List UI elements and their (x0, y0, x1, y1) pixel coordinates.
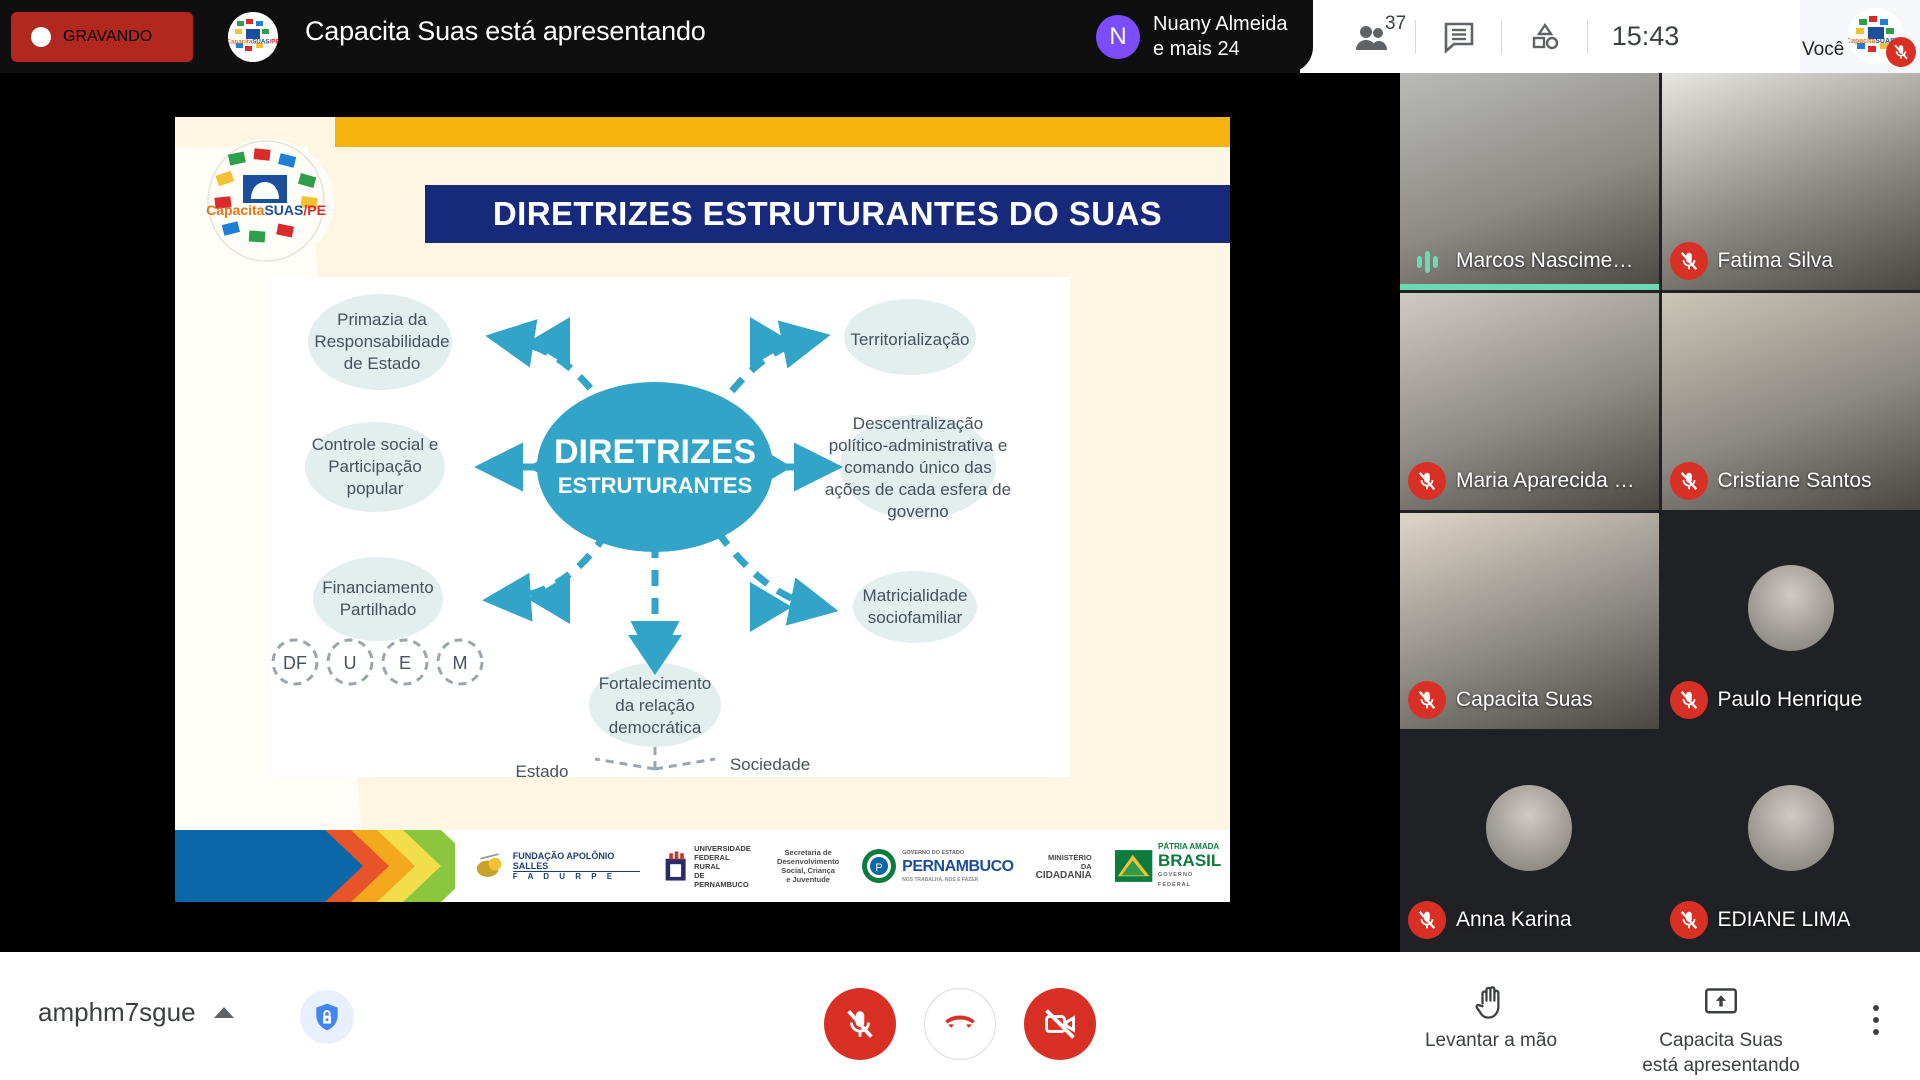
call-end-icon (942, 1006, 978, 1042)
chevron-up-icon (214, 1007, 234, 1018)
diretrizes-diagram: DIRETRIZES ESTRUTURANTES Primazia daResp… (270, 277, 1070, 777)
slide-footer: FUNDAÇÃO APOLÔNIO SALLESF A D U R P E UN… (175, 830, 1230, 902)
people-count: 37 (1385, 13, 1406, 35)
active-speaker-chip[interactable]: N Nuany Almeida e mais 24 (1073, 0, 1313, 73)
secretaria-desenvolvimento-social-logo: Secretaria deDesenvolvimentoSocial, Cria… (777, 848, 839, 884)
mic-off-button[interactable] (824, 988, 896, 1060)
svg-text:Partilhado: Partilhado (340, 600, 417, 619)
slide-title: DIRETRIZES ESTRUTURANTES DO SUAS (493, 195, 1162, 233)
raise-hand-label: Levantar a mão (1396, 1028, 1586, 1053)
svg-text:popular: popular (347, 479, 404, 498)
speaker-names: Nuany Almeida e mais 24 (1153, 12, 1288, 62)
ministerio-cidadania-logo: MINISTÉRIO DACIDADANIA (1036, 853, 1092, 880)
meeting-code: amphm7sgue (38, 997, 196, 1028)
svg-text:político-administrativa e: político-administrativa e (829, 436, 1008, 455)
avatar (1748, 565, 1834, 651)
participant-name: Marcos Nascime… (1456, 249, 1633, 273)
svg-text:CapacitaSUAS/PE: CapacitaSUAS/PE (206, 202, 326, 218)
svg-text:M: M (453, 653, 468, 673)
mic-off-icon (843, 1007, 877, 1041)
raise-hand-button[interactable]: Levantar a mão (1396, 980, 1586, 1053)
hangup-button[interactable] (924, 988, 996, 1060)
footer-chevrons (325, 830, 455, 902)
mic-off-icon (1670, 681, 1708, 719)
presenting-status-button[interactable]: Capacita Suas está apresentando (1626, 980, 1816, 1078)
svg-text:sociofamiliar: sociofamiliar (868, 608, 963, 627)
mic-off-icon (1670, 462, 1708, 500)
speaking-indicator-icon (1410, 246, 1444, 278)
participant-tile[interactable]: Fatima Silva (1662, 73, 1920, 290)
people-button[interactable]: 37 (1330, 0, 1415, 73)
participants-video-panel[interactable]: Marcos Nascime…Fatima SilvaMaria Apareci… (1400, 73, 1920, 952)
svg-text:Participação: Participação (328, 457, 422, 476)
participant-name: Paulo Henrique (1718, 688, 1863, 712)
activities-button[interactable] (1502, 0, 1587, 73)
bottom-bar: amphm7sgue (0, 952, 1920, 1080)
capacita-suas-pe-logo: CapacitaSUAS/PE (199, 139, 334, 264)
presentation-stage[interactable]: CapacitaSUAS/PE DIRETRIZES ESTRUTURANTES… (0, 73, 1400, 952)
svg-text:Territorialização: Territorialização (850, 330, 969, 349)
participant-name: Fatima Silva (1718, 249, 1834, 273)
participant-name: Capacita Suas (1456, 688, 1593, 712)
svg-text:E: E (399, 653, 411, 673)
meeting-clock: 15:43 (1588, 21, 1703, 52)
recording-badge[interactable]: GRAVANDO (11, 12, 193, 62)
presented-slide: CapacitaSUAS/PE DIRETRIZES ESTRUTURANTES… (175, 117, 1230, 902)
label-estado: Estado (516, 762, 569, 777)
diagram-card: DIRETRIZES ESTRUTURANTES Primazia daResp… (270, 277, 1070, 777)
svg-text:Sociedade: Sociedade (730, 755, 810, 774)
ufrpe-logo: UNIVERSIDADEFEDERAL RURALDE PERNAMBUCO (662, 844, 755, 889)
meeting-security-button[interactable] (300, 990, 354, 1044)
svg-text:Matricialidade: Matricialidade (863, 586, 968, 605)
self-view-mic-off-icon (1886, 37, 1916, 67)
mic-off-icon (1670, 242, 1708, 280)
svg-text:Controle social e: Controle social e (312, 435, 439, 454)
recording-label: GRAVANDO (63, 28, 152, 46)
kebab-dot-2 (1873, 1017, 1879, 1023)
participant-tile[interactable]: Anna Karina (1400, 732, 1659, 949)
participant-name: Cristiane Santos (1718, 469, 1872, 493)
node-descentralizacao: Descentralizaçãopolítico-administrativa … (825, 414, 1011, 521)
top-bar: GRAVANDO CapacitaSUAS/PE Capacita Suas e… (0, 0, 1920, 73)
camera-off-button[interactable] (1024, 988, 1096, 1060)
self-view-tile[interactable]: CapacitaSUAS/PE Você (1800, 0, 1920, 73)
recording-dot-icon (31, 27, 51, 47)
svg-text:Financiamento: Financiamento (322, 578, 434, 597)
svg-text:governo: governo (887, 502, 948, 521)
footer-logos: FUNDAÇÃO APOLÔNIO SALLESF A D U R P E UN… (465, 830, 1224, 902)
raised-hand-icon (1396, 980, 1586, 1024)
spheres-group: DF U E M (273, 640, 482, 684)
mic-off-icon (1408, 901, 1446, 939)
svg-text:CapacitaSUAS/PE: CapacitaSUAS/PE (228, 39, 278, 46)
svg-text:comando único das: comando único das (844, 458, 991, 477)
right-controls: Levantar a mão Capacita Suas está aprese… (1396, 980, 1896, 1078)
svg-text:P: P (875, 862, 882, 874)
diagram-center-line2: ESTRUTURANTES (558, 473, 752, 498)
participant-name: EDIANE LIMA (1718, 908, 1851, 932)
avatar (1748, 785, 1834, 871)
svg-text:Fortalecimento: Fortalecimento (599, 674, 711, 693)
participant-tile[interactable]: Maria Aparecida … (1400, 293, 1659, 510)
avatar (1486, 785, 1572, 871)
presenting-label-line2: está apresentando (1626, 1053, 1816, 1078)
svg-text:Descentralização: Descentralização (853, 414, 983, 433)
slide-title-bar: DIRETRIZES ESTRUTURANTES DO SUAS (425, 185, 1230, 243)
self-view-label: Você (1802, 39, 1844, 61)
slide-top-yellow-bar (175, 117, 1230, 147)
svg-text:de Estado: de Estado (344, 354, 421, 373)
node-territorializacao: Territorialização (850, 330, 969, 349)
svg-text:DF: DF (283, 653, 307, 673)
participant-tile[interactable]: Paulo Henrique (1662, 513, 1920, 730)
mic-off-icon (1408, 462, 1446, 500)
participant-name: Maria Aparecida … (1456, 469, 1635, 493)
google-meet-window: GRAVANDO CapacitaSUAS/PE Capacita Suas e… (0, 0, 1920, 1080)
pernambuco-logo: P GOVERNO DO ESTADO PERNAMBUCO NOS TRABA… (861, 847, 1013, 885)
svg-text:ações de cada esfera de: ações de cada esfera de (825, 480, 1011, 499)
diagram-center-line1: DIRETRIZES (554, 433, 756, 471)
svg-text:da relação: da relação (615, 696, 694, 715)
present-to-all-icon (1626, 980, 1816, 1024)
patria-amada-brasil-logo: PÁTRIA AMADA BRASIL GOVERNO FEDERAL (1114, 842, 1224, 890)
svg-text:Responsabilidade: Responsabilidade (314, 332, 449, 351)
shield-lock-icon (311, 1001, 343, 1033)
kebab-dot-1 (1873, 1005, 1879, 1011)
call-controls (824, 988, 1096, 1060)
meeting-code-button[interactable]: amphm7sgue (38, 997, 234, 1028)
presenter-logo: CapacitaSUAS/PE (228, 12, 278, 62)
camera-off-icon (1042, 1006, 1078, 1042)
presenting-label-line1: Capacita Suas (1626, 1028, 1816, 1053)
fundacao-apolonio-salles-logo: FUNDAÇÃO APOLÔNIO SALLESF A D U R P E (475, 849, 640, 883)
participant-tile[interactable]: Cristiane Santos (1662, 293, 1920, 510)
participant-tile[interactable]: Capacita Suas (1400, 513, 1659, 730)
svg-text:U: U (344, 653, 357, 673)
mic-off-icon (1670, 901, 1708, 939)
more-options-button[interactable] (1856, 980, 1896, 1060)
svg-text:Primazia da: Primazia da (337, 310, 427, 329)
speaker-avatar: N (1096, 15, 1140, 59)
chat-button[interactable] (1416, 0, 1501, 73)
active-speaker-underline (1400, 284, 1659, 290)
speaker-name-line1: Nuany Almeida (1153, 12, 1288, 37)
node-fortalecimento: Fortalecimentoda relaçãodemocrática (599, 674, 711, 737)
svg-text:democrática: democrática (609, 718, 702, 737)
presenting-title: Capacita Suas está apresentando (305, 16, 706, 47)
mic-off-icon (1408, 681, 1446, 719)
speaker-name-line2: e mais 24 (1153, 37, 1288, 62)
kebab-dot-3 (1873, 1029, 1879, 1035)
participant-tile[interactable]: EDIANE LIMA (1662, 732, 1920, 949)
participant-name: Anna Karina (1456, 908, 1572, 932)
participant-tile[interactable]: Marcos Nascime… (1400, 73, 1659, 290)
top-bar-actions: 37 15:43 (1330, 0, 1703, 73)
